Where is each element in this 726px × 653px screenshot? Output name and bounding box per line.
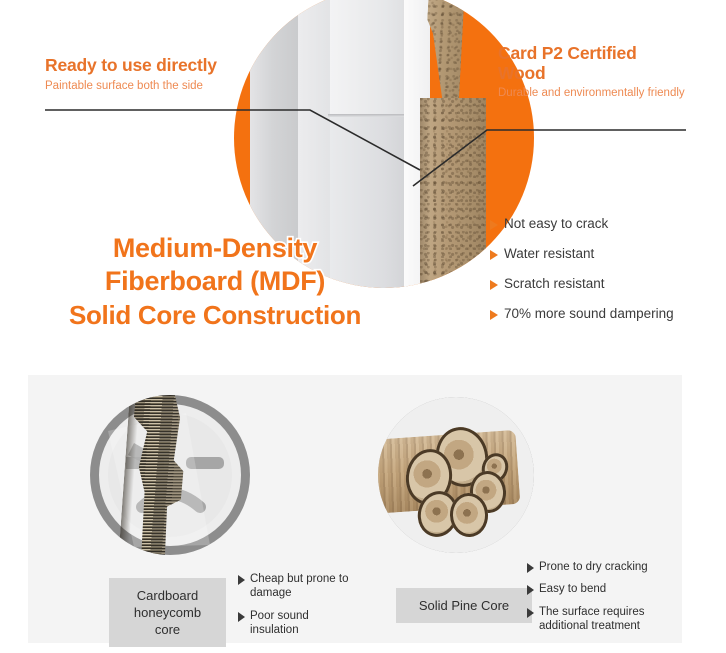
drawback-label: The surface requires additional treatmen…: [539, 605, 677, 634]
callout-right: Card P2 Certified Wood Durable and envir…: [498, 44, 688, 102]
triangle-bullet-icon: [490, 220, 498, 230]
callout-left-subtitle: Paintable surface both the side: [45, 79, 275, 95]
feature-list: Not easy to crack Water resistant Scratc…: [490, 216, 720, 336]
drawback-label: Prone to dry cracking: [539, 560, 648, 574]
drawback-item: Poor sound insulation: [238, 609, 358, 638]
triangle-bullet-icon: [527, 563, 534, 573]
chip-cardboard-honeycomb-core: Cardboard honeycomb core: [109, 578, 226, 647]
drawback-item: Cheap but prone to damage: [238, 572, 358, 601]
cardboard-drawback-list: Cheap but prone to damage Poor sound ins…: [238, 572, 358, 645]
triangle-bullet-icon: [527, 585, 534, 595]
triangle-bullet-icon: [490, 310, 498, 320]
callout-left-title: Ready to use directly: [45, 56, 275, 76]
callout-left: Ready to use directly Paintable surface …: [45, 56, 275, 94]
feature-label: Water resistant: [504, 246, 594, 263]
callout-right-title: Card P2 Certified Wood: [498, 44, 688, 83]
cardboard-honeycomb-icon: [90, 395, 250, 555]
headline-line-1: Medium-Density: [0, 232, 430, 265]
triangle-bullet-icon: [527, 608, 534, 618]
feature-item: Not easy to crack: [490, 216, 720, 233]
headline-line-3: Solid Core Construction: [0, 299, 430, 331]
drawback-item: Prone to dry cracking: [527, 560, 677, 574]
main-headline: Medium-Density Fiberboard (MDF) Solid Co…: [0, 232, 430, 331]
chip-solid-pine-core: Solid Pine Core: [396, 588, 532, 623]
pine-drawback-list: Prone to dry cracking Easy to bend The s…: [527, 560, 677, 641]
feature-label: Scratch resistant: [504, 276, 605, 293]
pine-logs-icon: [378, 397, 534, 553]
triangle-bullet-icon: [490, 250, 498, 260]
drawback-label: Cheap but prone to damage: [250, 572, 358, 601]
feature-item: Scratch resistant: [490, 276, 720, 293]
drawback-item: The surface requires additional treatmen…: [527, 605, 677, 634]
callout-right-subtitle: Durable and environmentally friendly: [498, 86, 688, 102]
top-section: Ready to use directly Paintable surface …: [0, 0, 726, 370]
infographic-canvas: Ready to use directly Paintable surface …: [0, 0, 726, 653]
triangle-bullet-icon: [490, 280, 498, 290]
drawback-label: Easy to bend: [539, 582, 606, 596]
drawback-label: Poor sound insulation: [250, 609, 358, 638]
drawback-item: Easy to bend: [527, 582, 677, 596]
triangle-bullet-icon: [238, 575, 245, 585]
feature-item: Water resistant: [490, 246, 720, 263]
feature-item: 70% more sound dampering: [490, 306, 720, 323]
leader-line-right: [413, 130, 686, 186]
headline-line-2: Fiberboard (MDF): [0, 265, 430, 298]
feature-label: 70% more sound dampering: [504, 306, 674, 323]
leader-line-left: [45, 110, 420, 170]
triangle-bullet-icon: [238, 612, 245, 622]
feature-label: Not easy to crack: [504, 216, 608, 233]
